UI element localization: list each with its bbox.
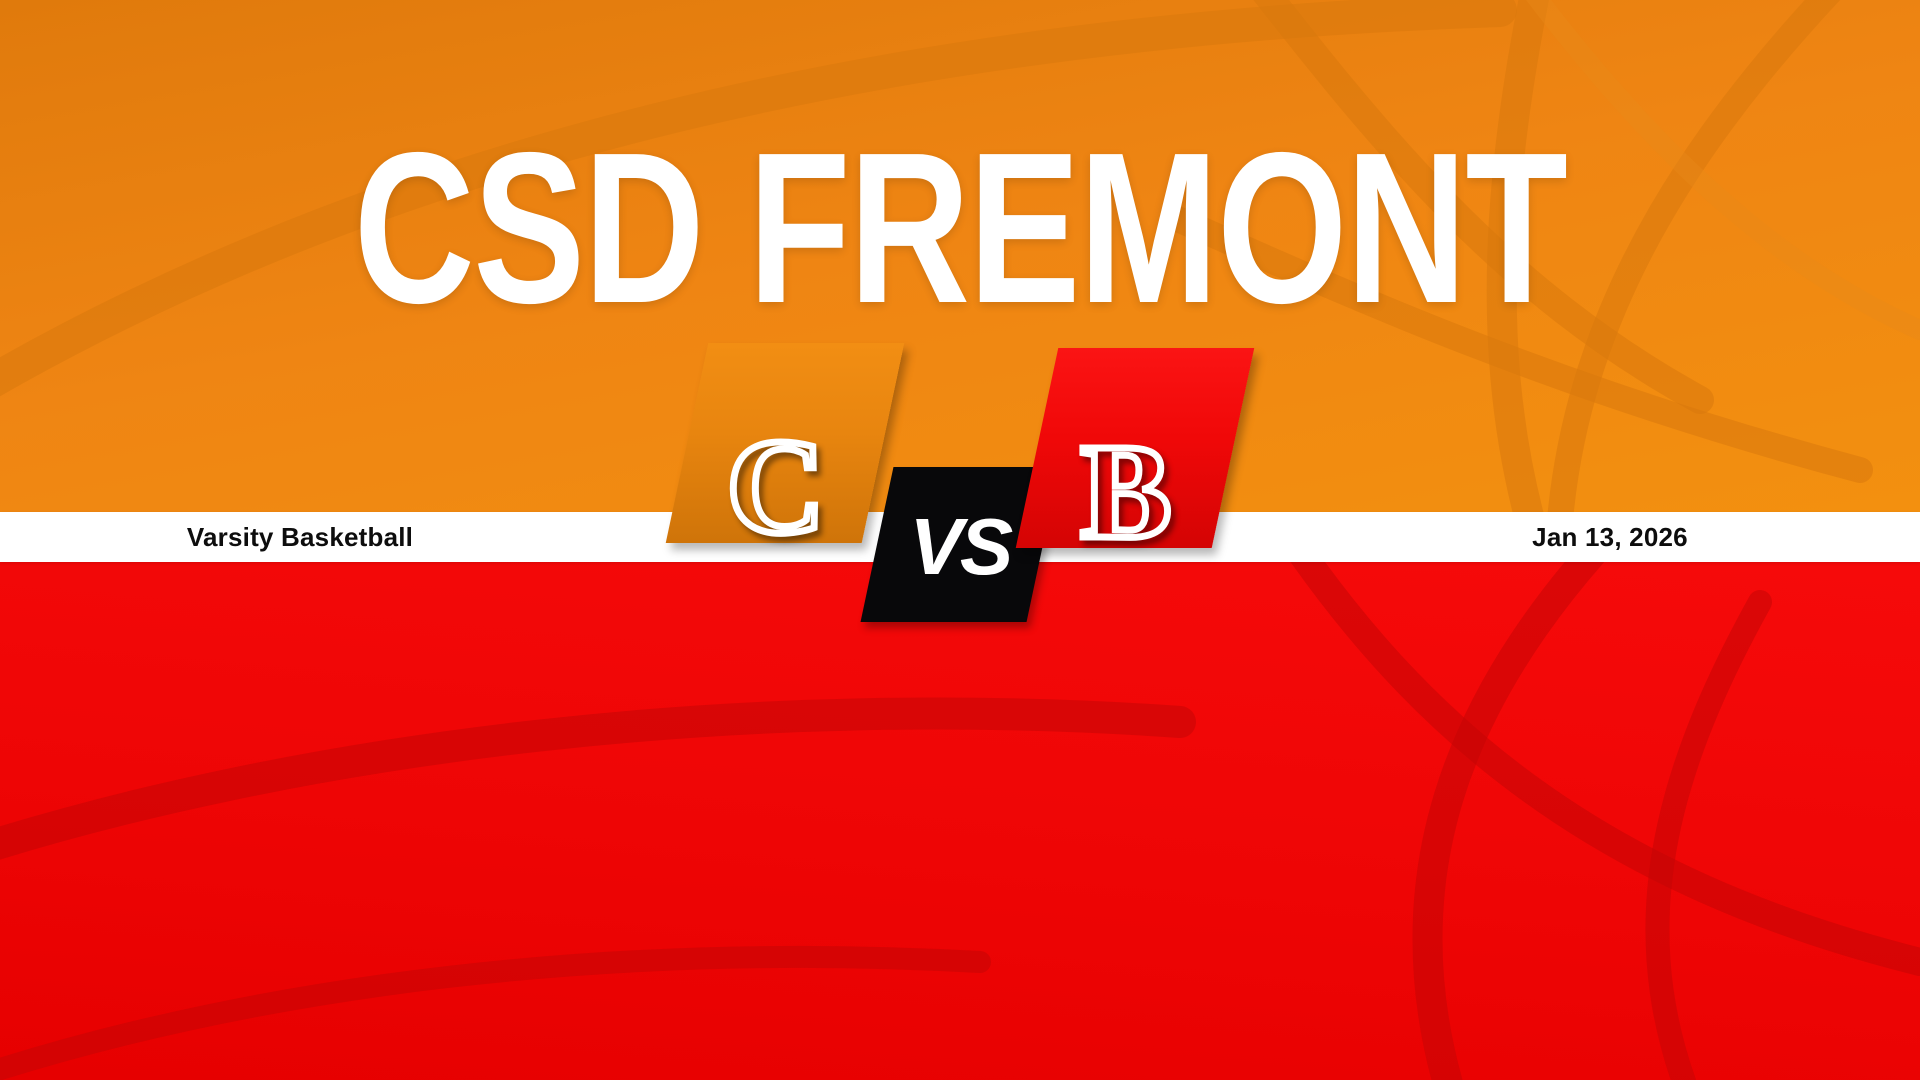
versus-badge-cluster: C VS B [687,343,1233,593]
sport-label: Varsity Basketball [0,522,600,553]
home-team-logo-panel: C [666,343,905,543]
game-date: Jan 13, 2026 [1300,522,1920,553]
versus-label: VS [909,507,1010,587]
basketball-seam-art-bottom [0,562,1920,1080]
matchup-graphic: CSD FREMONT BRAVE CHR. Varsity Basketbal… [0,0,1920,1080]
away-team-logo-panel: B [1016,348,1255,548]
away-team-logo-letter: B [1080,424,1171,560]
basketball-lines-bottom-svg [0,562,1920,1080]
home-team-logo-letter: C [727,419,825,555]
home-team-name: CSD FREMONT [211,120,1709,335]
away-team-background: BRAVE CHR. [0,562,1920,1080]
